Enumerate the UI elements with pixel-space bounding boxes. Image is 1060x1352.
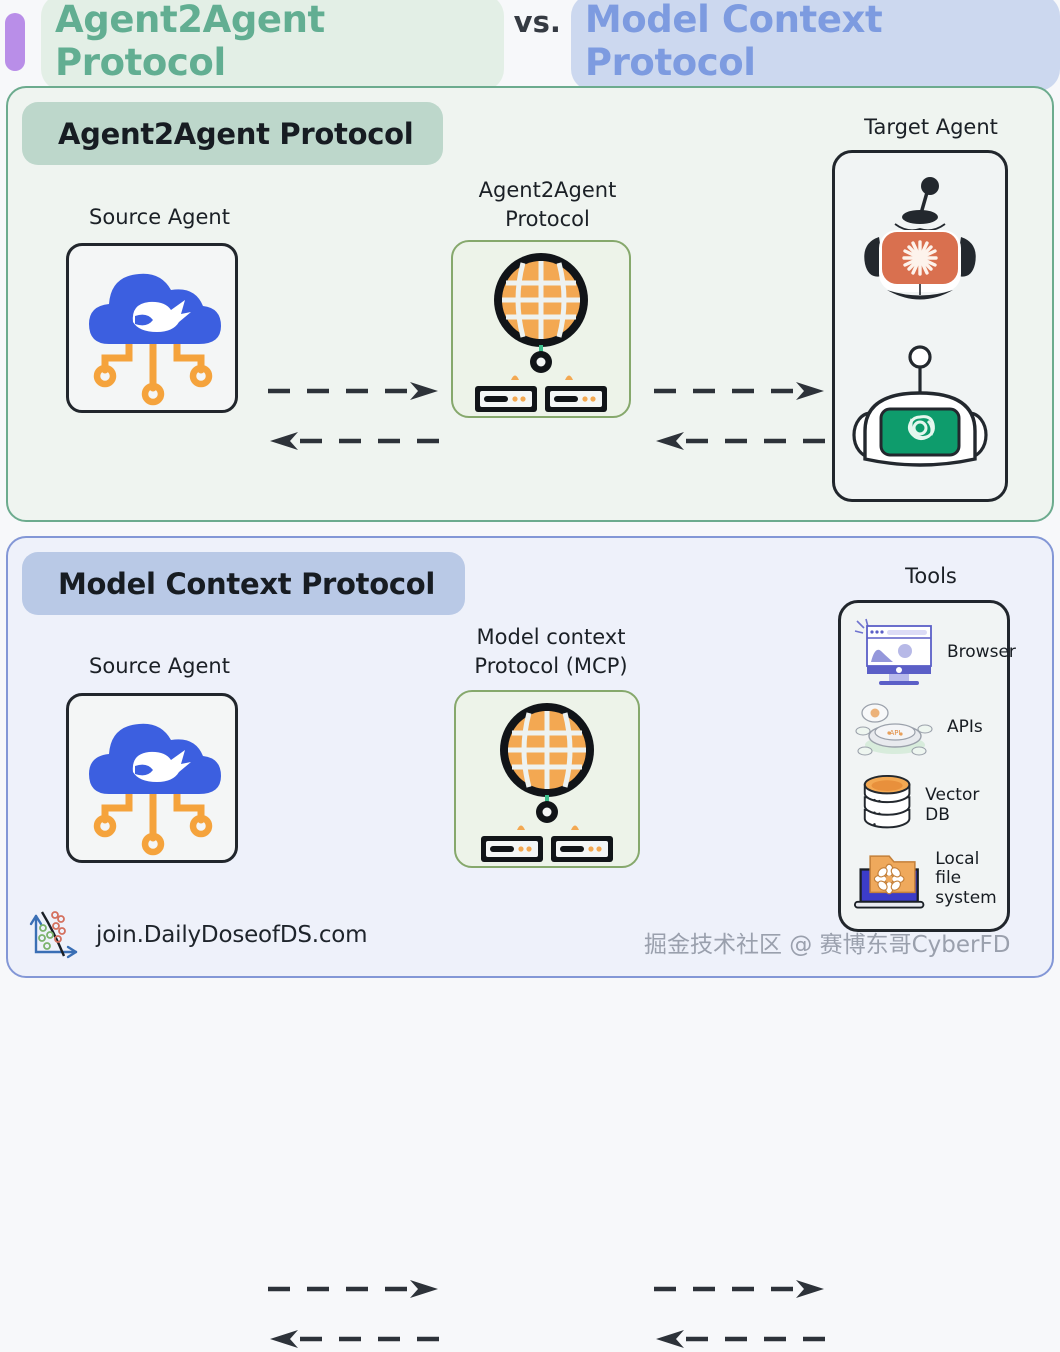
tool-item-local-file-system[interactable]: Local file system bbox=[853, 845, 1007, 913]
globe-servers-icon bbox=[456, 692, 638, 866]
tool-item-apis[interactable]: API APIs bbox=[853, 695, 983, 761]
tool-label-apis: APIs bbox=[947, 718, 983, 738]
robot-openai-icon bbox=[835, 335, 1005, 485]
database-cylinder-icon bbox=[857, 773, 917, 839]
tool-item-browser[interactable]: Browser bbox=[853, 617, 1016, 689]
tool-item-vector-db[interactable]: Vector DB bbox=[857, 773, 1007, 839]
arrow-right-protocol-to-tools-mcp bbox=[652, 1278, 828, 1302]
folder-laptop-icon bbox=[853, 845, 927, 913]
cloud-whale-icon bbox=[69, 696, 237, 862]
panel-badge-mcp: Model Context Protocol bbox=[22, 552, 465, 615]
arrow-right-source-to-protocol-mcp bbox=[266, 1278, 442, 1302]
arrow-left-tools-to-protocol-mcp bbox=[652, 1328, 828, 1352]
watermark-text: 掘金技术社区 @ 赛博东哥CyberFD bbox=[644, 925, 1010, 959]
page-header: Agent2Agent Protocol vs. Model Context P… bbox=[0, 0, 1060, 84]
arrow-right-source-to-protocol-a2a bbox=[266, 380, 442, 404]
label-tools-mcp: Tools bbox=[826, 562, 1036, 591]
card-source-agent-mcp[interactable] bbox=[66, 693, 238, 863]
title-agent2agent: Agent2Agent Protocol bbox=[41, 0, 504, 91]
footer-brand[interactable]: join.DailyDoseofDS.com bbox=[28, 906, 367, 964]
title-separator: vs. bbox=[514, 5, 561, 39]
title-model-context: Model Context Protocol bbox=[571, 0, 1060, 91]
arrow-left-protocol-to-source-a2a bbox=[266, 430, 442, 454]
panel-agent2agent: Agent2Agent Protocol Source Agent bbox=[6, 86, 1054, 522]
label-protocol-a2a: Agent2Agent Protocol bbox=[440, 176, 655, 234]
panel-badge-agent2agent: Agent2Agent Protocol bbox=[22, 102, 443, 165]
api-plate-icon: API bbox=[853, 695, 939, 761]
label-protocol-mcp: Model context Protocol (MCP) bbox=[436, 623, 666, 681]
tool-label-browser: Browser bbox=[947, 643, 1016, 663]
scatter-plot-axes-icon bbox=[28, 906, 86, 964]
tool-label-vector-db: Vector DB bbox=[925, 786, 1007, 825]
arrow-right-protocol-to-target-a2a bbox=[652, 380, 828, 404]
arrow-left-protocol-to-source-mcp bbox=[266, 1328, 442, 1352]
robot-claude-icon bbox=[835, 169, 1005, 319]
card-target-agent-a2a[interactable] bbox=[832, 150, 1008, 502]
monitor-browser-icon bbox=[853, 617, 939, 689]
card-protocol-a2a[interactable] bbox=[451, 240, 631, 418]
label-source-agent-mcp: Source Agent bbox=[52, 652, 267, 681]
globe-servers-icon bbox=[453, 242, 629, 416]
card-source-agent-a2a[interactable] bbox=[66, 243, 238, 413]
card-tools-mcp[interactable]: Browser API APIs bbox=[838, 600, 1010, 932]
cloud-whale-icon bbox=[69, 246, 237, 412]
card-protocol-mcp[interactable] bbox=[454, 690, 640, 868]
label-target-agent-a2a: Target Agent bbox=[826, 113, 1036, 142]
tool-label-local-file-system: Local file system bbox=[935, 850, 1007, 909]
page-title: Agent2Agent Protocol vs. Model Context P… bbox=[41, 0, 1060, 91]
footer-brand-text: join.DailyDoseofDS.com bbox=[96, 922, 367, 948]
arrow-left-target-to-protocol-a2a bbox=[652, 430, 828, 454]
svg-text:API: API bbox=[889, 729, 900, 737]
label-source-agent-a2a: Source Agent bbox=[52, 203, 267, 232]
accent-bar bbox=[5, 13, 25, 71]
